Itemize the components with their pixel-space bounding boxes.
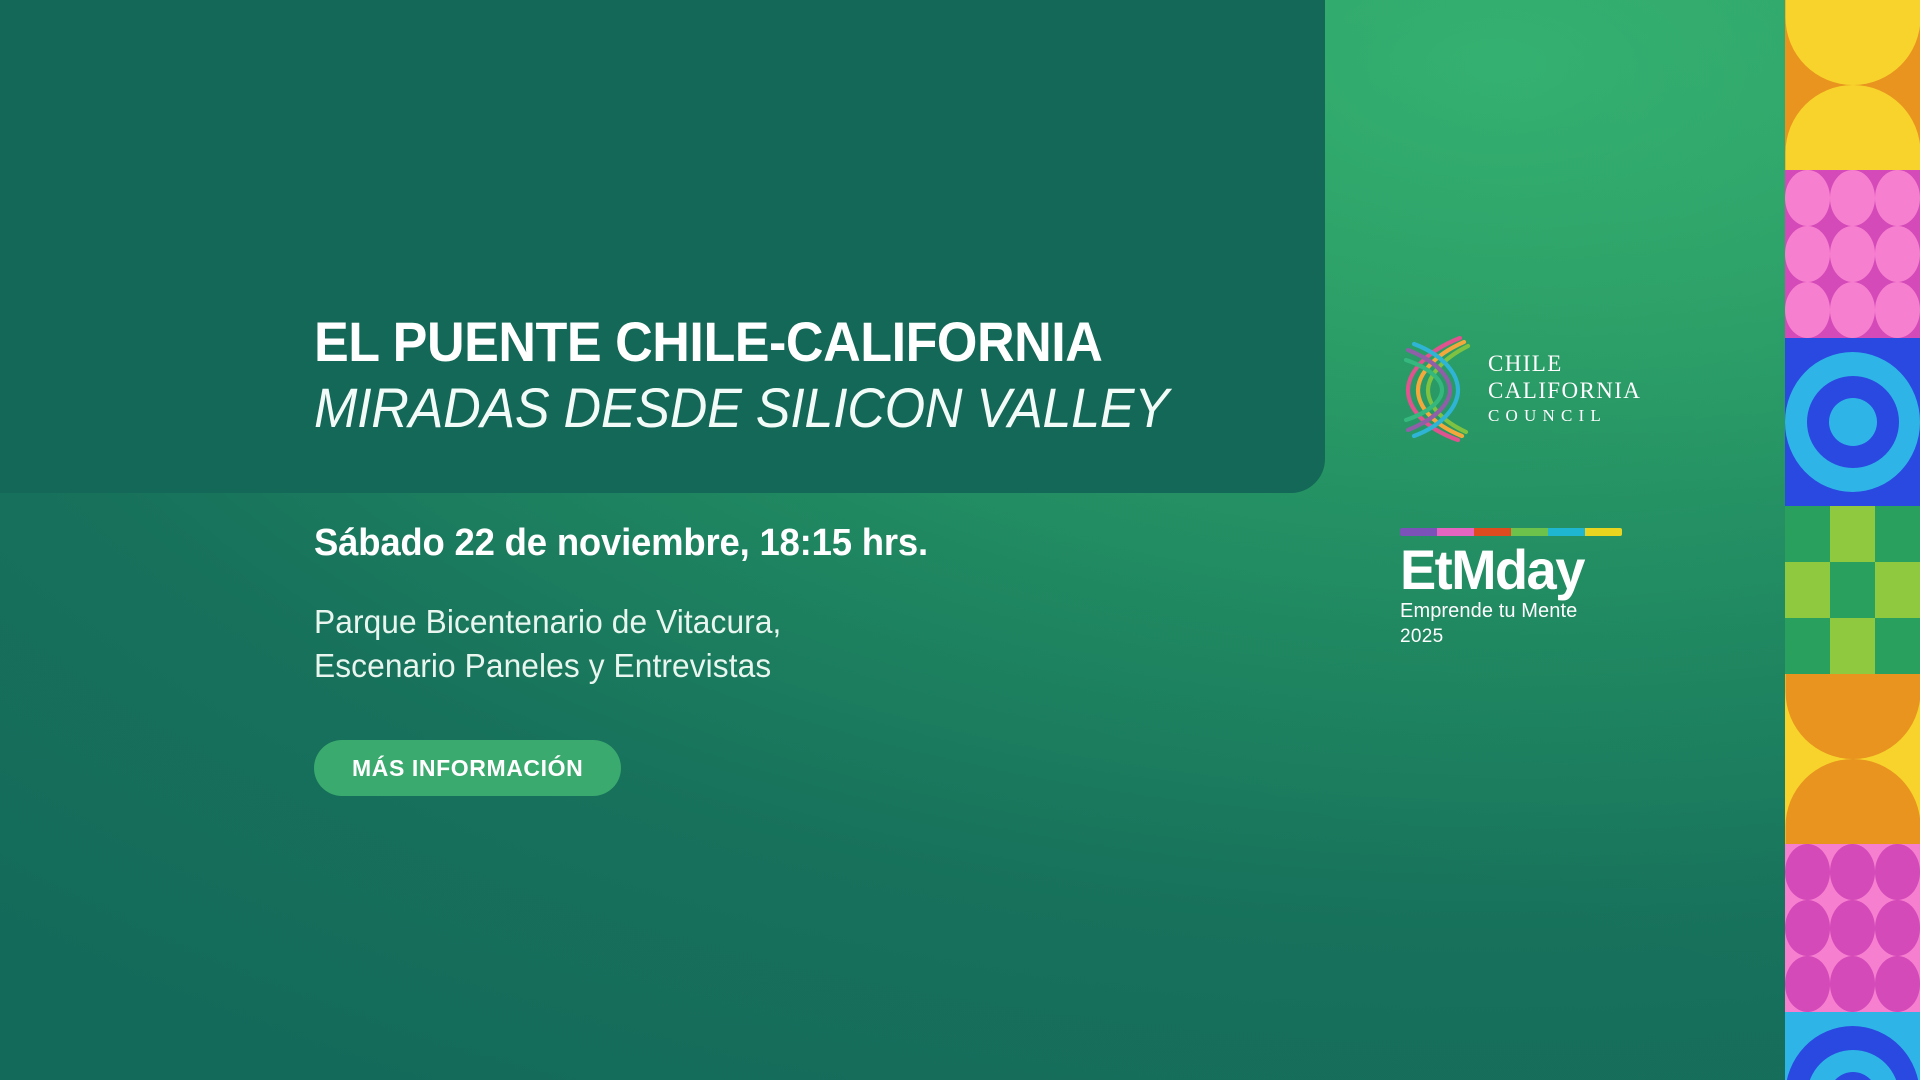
checker-square — [1875, 618, 1920, 674]
pattern-circle — [1830, 844, 1875, 900]
pattern-circle — [1830, 956, 1875, 1012]
venue-line-1: Parque Bicentenario de Vitacura, — [314, 600, 781, 644]
more-info-button[interactable]: MÁS INFORMACIÓN — [314, 740, 621, 796]
ring-middle — [1807, 376, 1899, 468]
pattern-tile-circles — [1785, 170, 1920, 338]
etmday-bar-segment — [1548, 528, 1585, 536]
pattern-circle — [1830, 170, 1875, 226]
council-line-2: CALIFORNIA — [1488, 378, 1641, 405]
pattern-circle — [1830, 900, 1875, 956]
pattern-circle — [1875, 900, 1920, 956]
etmday-bar-segment — [1400, 528, 1437, 536]
pattern-tile-circles — [1785, 844, 1920, 1012]
ring-outer — [1785, 352, 1920, 492]
ring-outer — [1785, 1026, 1920, 1080]
headline-block: EL PUENTE CHILE-CALIFORNIA MIRADAS DESDE… — [314, 312, 1314, 440]
swoosh-mark-icon — [1398, 330, 1476, 448]
page-subtitle: MIRADAS DESDE SILICON VALLEY — [314, 377, 1244, 440]
council-line-3: COUNCIL — [1488, 405, 1641, 427]
etmday-bar-segment — [1511, 528, 1548, 536]
ring-middle — [1807, 1050, 1899, 1080]
pattern-circle — [1785, 900, 1830, 956]
ring-core — [1829, 398, 1877, 446]
etmday-tagline: Emprende tu Mente — [1400, 599, 1622, 623]
event-venue: Parque Bicentenario de Vitacura, Escenar… — [314, 600, 781, 687]
checker-square — [1785, 618, 1830, 674]
etmday-year: 2025 — [1400, 626, 1622, 648]
pattern-circle — [1875, 282, 1920, 338]
pattern-tile-checker — [1785, 506, 1920, 674]
hourglass-bottom-shape — [1785, 759, 1920, 844]
pattern-circle — [1785, 844, 1830, 900]
pattern-circle — [1875, 170, 1920, 226]
pattern-circle — [1875, 844, 1920, 900]
checker-square — [1875, 562, 1920, 618]
pattern-tile-ring — [1785, 1012, 1920, 1080]
pattern-circle — [1785, 956, 1830, 1012]
page-title: EL PUENTE CHILE-CALIFORNIA — [314, 312, 1244, 371]
chile-california-council-logo: CHILE CALIFORNIA COUNCIL — [1398, 325, 1620, 453]
ring-core — [1829, 1072, 1877, 1080]
pattern-tile-hourglass — [1785, 674, 1920, 844]
hourglass-bottom-shape — [1785, 85, 1920, 170]
etmday-bar-segment — [1474, 528, 1511, 536]
pattern-tile-ring — [1785, 338, 1920, 506]
checker-square — [1830, 618, 1875, 674]
pattern-circle — [1875, 956, 1920, 1012]
pattern-circle — [1830, 282, 1875, 338]
etmday-color-bar — [1400, 528, 1622, 536]
pattern-circle — [1875, 226, 1920, 282]
pattern-circle — [1830, 226, 1875, 282]
pattern-circle — [1785, 170, 1830, 226]
checker-square — [1785, 562, 1830, 618]
etmday-bar-segment — [1585, 528, 1622, 536]
checker-square — [1830, 506, 1875, 562]
pattern-tile-hourglass — [1785, 0, 1920, 170]
etmday-logo: EtMday Emprende tu Mente 2025 — [1400, 528, 1622, 663]
etmday-bar-segment — [1437, 528, 1474, 536]
etmday-wordmark: EtMday — [1400, 543, 1615, 597]
hourglass-top-shape — [1785, 0, 1920, 85]
venue-line-2: Escenario Paneles y Entrevistas — [314, 644, 781, 688]
checker-square — [1875, 506, 1920, 562]
pattern-circle — [1785, 226, 1830, 282]
checker-square — [1830, 562, 1875, 618]
hourglass-top-shape — [1785, 674, 1920, 759]
council-line-1: CHILE — [1488, 351, 1641, 378]
council-wordmark: CHILE CALIFORNIA COUNCIL — [1488, 351, 1641, 426]
decorative-pattern-strip — [1785, 0, 1920, 1080]
pattern-circle — [1785, 282, 1830, 338]
event-date: Sábado 22 de noviembre, 18:15 hrs. — [314, 522, 928, 565]
checker-square — [1785, 506, 1830, 562]
